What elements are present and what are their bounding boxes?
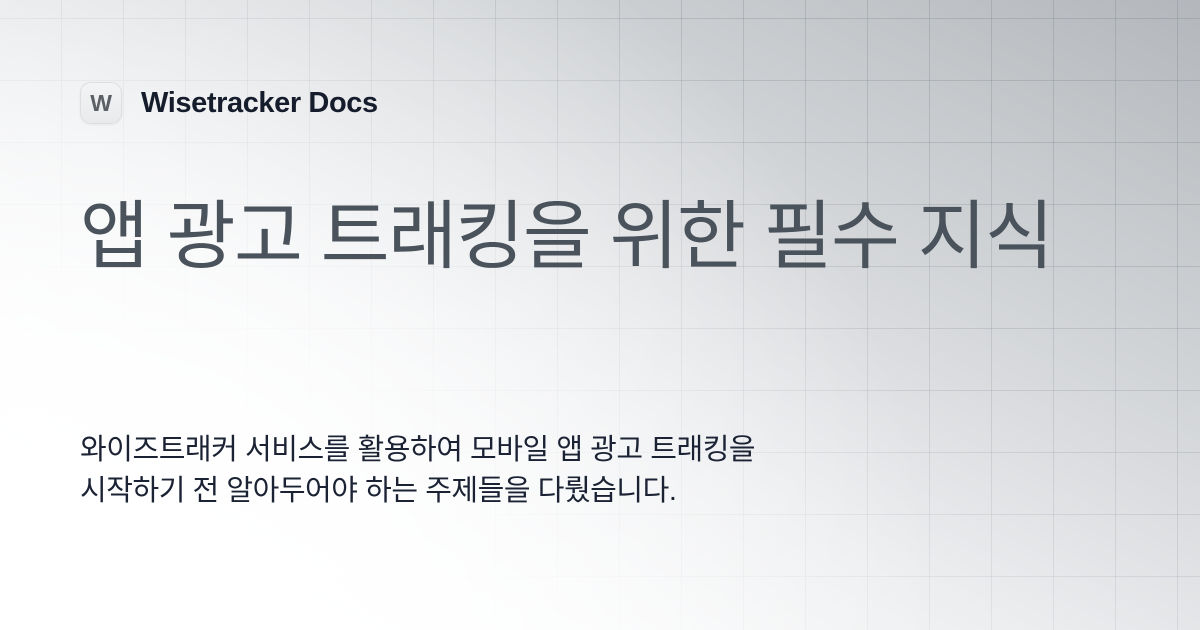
brand-name: Wisetracker Docs <box>141 87 378 120</box>
og-card: W Wisetracker Docs 앱 광고 트래킹을 위한 필수 지식 와이… <box>0 0 1200 630</box>
brand-header: W Wisetracker Docs <box>80 82 378 124</box>
card-content: W Wisetracker Docs 앱 광고 트래킹을 위한 필수 지식 와이… <box>0 0 1200 630</box>
page-description: 와이즈트래커 서비스를 활용하여 모바일 앱 광고 트래킹을 시작하기 전 알아… <box>80 430 850 512</box>
brand-badge-letter: W <box>90 92 111 115</box>
page-title: 앱 광고 트래킹을 위한 필수 지식 <box>80 194 1140 279</box>
wisetracker-logo-icon: W <box>80 82 122 124</box>
